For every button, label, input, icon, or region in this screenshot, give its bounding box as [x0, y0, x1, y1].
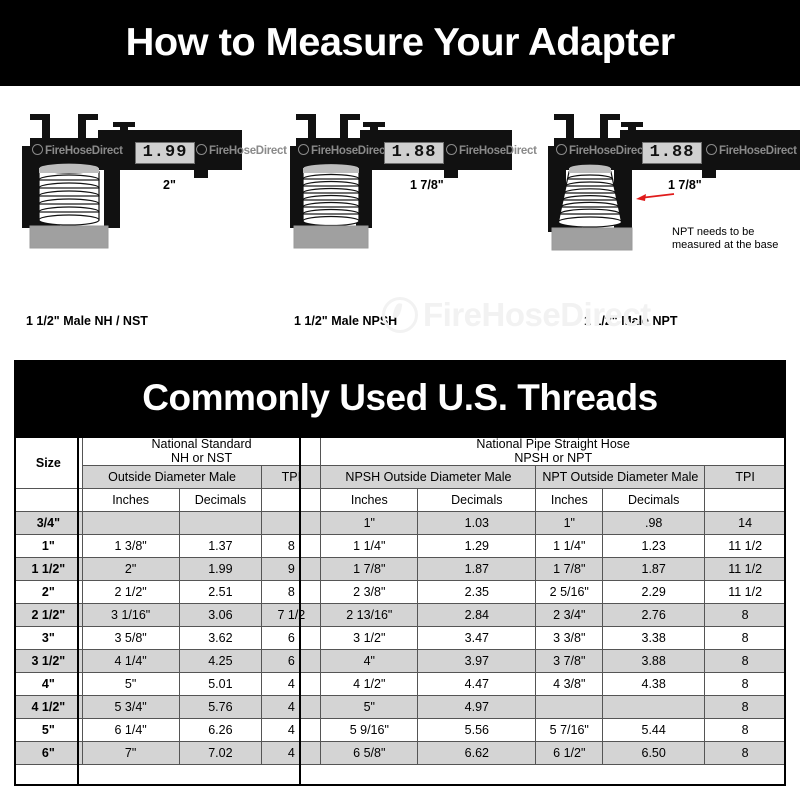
cell-npsh-in: 3 1/2" [321, 627, 418, 650]
cell-nh-in [82, 512, 179, 535]
cell-npt-in: 3 7/8" [536, 650, 603, 673]
cell-npt-tpi: 8 [705, 650, 786, 673]
cell-npt-tpi: 8 [705, 627, 786, 650]
cell-npt-dec: 1.87 [603, 558, 705, 581]
npt-note-line-2: measured at the base [672, 239, 778, 252]
col-header-npt-od-male: NPT Outside Diameter Male [536, 466, 705, 489]
unit-header-blank-size [15, 489, 83, 512]
table-row: 3"3 5/8"3.6263 1/2"3.473 3/8"3.388 [15, 627, 786, 650]
cell-npt-in: 6 1/2" [536, 742, 603, 765]
cell-nh-dec: 6.26 [179, 719, 262, 742]
cell-size: 2" [15, 581, 83, 604]
cell-nh-dec: 1.37 [179, 535, 262, 558]
col-header-size: Size [15, 437, 83, 489]
flame-ring-icon [446, 144, 457, 155]
cell-nh-tpi: 4 [262, 673, 321, 696]
cell-nh-dec: 3.06 [179, 604, 262, 627]
caliper-lcd-display-2: 1.88 [384, 142, 444, 164]
cell-npsh-dec: 2.84 [418, 604, 536, 627]
unit-header-blank-tpi-1 [262, 489, 321, 512]
strip-watermark-left: FireHoseDirect [298, 144, 389, 157]
cell-size: 4" [15, 673, 83, 696]
cell-nh-in: 3 1/16" [82, 604, 179, 627]
cell-npsh-dec: 6.62 [418, 742, 536, 765]
table-row: 3 1/2"4 1/4"4.2564"3.973 7/8"3.888 [15, 650, 786, 673]
cell-npsh-dec: 1.29 [418, 535, 536, 558]
cell-npsh-in: 2 3/8" [321, 581, 418, 604]
cell-npt-tpi: 11 1/2 [705, 558, 786, 581]
table-body: 3/4"1"1.031".98141"1 3/8"1.3781 1/4"1.29… [15, 512, 786, 765]
caliper-lcd-display-3: 1.88 [642, 142, 702, 164]
cell-nh-dec: 7.02 [179, 742, 262, 765]
unit-header-inches-1: Inches [82, 489, 179, 512]
cell-npt-dec: 3.38 [603, 627, 705, 650]
cell-npt-in: 5 7/16" [536, 719, 603, 742]
cell-size: 5" [15, 719, 83, 742]
cell-npsh-in: 1" [321, 512, 418, 535]
cell-npt-in [536, 696, 603, 719]
diagram-npsh: FireHoseDirect FireHoseDirect 1.88 1 7/8… [286, 86, 552, 356]
cell-nh-in: 2" [82, 558, 179, 581]
npt-note-line-1: NPT needs to be [672, 226, 778, 239]
cell-nh-dec [179, 512, 262, 535]
unit-header-decimals-2: Decimals [418, 489, 536, 512]
flame-ring-icon [196, 144, 207, 155]
table-row: 5"6 1/4"6.2645 9/16"5.565 7/16"5.448 [15, 719, 786, 742]
cell-npt-in: 1" [536, 512, 603, 535]
cell-nh-dec: 5.76 [179, 696, 262, 719]
cell-nh-dec: 3.62 [179, 627, 262, 650]
cell-nh-in: 6 1/4" [82, 719, 179, 742]
cell-npt-in: 3 3/8" [536, 627, 603, 650]
cell-npt-tpi: 8 [705, 604, 786, 627]
cell-nh-tpi: 6 [262, 627, 321, 650]
diagram-nh-nst: FireHoseDirect FireHoseDirect 1.99 2" 1 … [8, 86, 274, 356]
unit-header-decimals-1: Decimals [179, 489, 262, 512]
cell-npt-in: 1 1/4" [536, 535, 603, 558]
cell-size: 1" [15, 535, 83, 558]
diagram-caption-2: 1 1/2" Male NPSH [294, 314, 397, 328]
unit-header-blank-tpi-2 [705, 489, 786, 512]
cell-nh-in: 3 5/8" [82, 627, 179, 650]
cell-nh-in: 4 1/4" [82, 650, 179, 673]
cell-npsh-in: 5 9/16" [321, 719, 418, 742]
flame-ring-icon [298, 144, 309, 155]
table-title: Commonly Used U.S. Threads [142, 377, 657, 419]
strip-watermark-right: FireHoseDirect [706, 144, 797, 157]
cell-nh-dec: 4.25 [179, 650, 262, 673]
unit-header-decimals-3: Decimals [603, 489, 705, 512]
table-row: 1 1/2"2"1.9991 7/8"1.871 7/8"1.8711 1/2 [15, 558, 786, 581]
cell-npsh-in: 4 1/2" [321, 673, 418, 696]
cell-npt-dec: .98 [603, 512, 705, 535]
cell-size: 6" [15, 742, 83, 765]
cell-npsh-in: 1 1/4" [321, 535, 418, 558]
table-row: 6"7"7.0246 5/8"6.626 1/2"6.508 [15, 742, 786, 765]
caliper-reading-label-1: 2" [163, 178, 176, 192]
diagram-caption-3: 1 1/2" Male NPT [584, 314, 677, 328]
page-title: How to Measure Your Adapter [125, 21, 674, 65]
cell-npt-dec: 5.44 [603, 719, 705, 742]
strip-watermark-right: FireHoseDirect [446, 144, 537, 157]
ns-line2: NH or NST [171, 451, 232, 465]
cell-npt-tpi: 8 [705, 673, 786, 696]
cell-size: 3/4" [15, 512, 83, 535]
cell-nh-tpi: 7 1/2 [262, 604, 321, 627]
red-arrow-icon [636, 194, 674, 201]
cell-npsh-in: 4" [321, 650, 418, 673]
cell-npt-tpi: 11 1/2 [705, 535, 786, 558]
cell-npsh-dec: 5.56 [418, 719, 536, 742]
cell-npt-tpi: 11 1/2 [705, 581, 786, 604]
cell-npt-dec: 2.29 [603, 581, 705, 604]
table-head: Size National Standard NH or NST Nationa… [15, 437, 786, 512]
cell-npsh-dec: 2.35 [418, 581, 536, 604]
col-header-tpi-right: TPI [705, 466, 786, 489]
cell-npt-dec [603, 696, 705, 719]
nps-line1: National Pipe Straight Hose [476, 437, 630, 451]
diagram-caption-1: 1 1/2" Male NH / NST [26, 314, 148, 328]
unit-header-inches-3: Inches [536, 489, 603, 512]
top-title-banner: How to Measure Your Adapter [0, 0, 800, 86]
col-header-tpi-left: TPI [262, 466, 321, 489]
cell-size: 1 1/2" [15, 558, 83, 581]
cell-npsh-in: 2 13/16" [321, 604, 418, 627]
caliper-lcd-display-1: 1.99 [135, 142, 195, 164]
cell-npsh-in: 1 7/8" [321, 558, 418, 581]
table-sub-header-row: Outside Diameter Male TPI NPSH Outside D… [15, 466, 786, 489]
flame-ring-icon [556, 144, 567, 155]
cell-nh-in: 5 3/4" [82, 696, 179, 719]
table-row: 3/4"1"1.031".9814 [15, 512, 786, 535]
col-group-national-pipe-straight-hose: National Pipe Straight Hose NPSH or NPT [321, 437, 786, 466]
cell-npsh-dec: 3.97 [418, 650, 536, 673]
table-row: 2 1/2"3 1/16"3.067 1/22 13/16"2.842 3/4"… [15, 604, 786, 627]
ns-line1: National Standard [152, 437, 252, 451]
cell-nh-tpi: 4 [262, 742, 321, 765]
cell-npt-tpi: 14 [705, 512, 786, 535]
table-unit-header-row: Inches Decimals Inches Decimals Inches D… [15, 489, 786, 512]
cell-size: 4 1/2" [15, 696, 83, 719]
cell-size: 3 1/2" [15, 650, 83, 673]
cell-npsh-dec: 4.47 [418, 673, 536, 696]
cell-nh-dec: 5.01 [179, 673, 262, 696]
cell-size: 2 1/2" [15, 604, 83, 627]
table-row: 1"1 3/8"1.3781 1/4"1.291 1/4"1.2311 1/2 [15, 535, 786, 558]
strip-watermark-left: FireHoseDirect [32, 144, 123, 157]
cell-size: 3" [15, 627, 83, 650]
flame-ring-icon [706, 144, 717, 155]
cell-npt-dec: 4.38 [603, 673, 705, 696]
cell-npt-in: 2 5/16" [536, 581, 603, 604]
cell-nh-tpi: 4 [262, 719, 321, 742]
nps-line2: NPSH or NPT [514, 451, 592, 465]
caliper-reading-label-2: 1 7/8" [410, 178, 444, 192]
cell-nh-tpi: 8 [262, 581, 321, 604]
cell-npt-in: 4 3/8" [536, 673, 603, 696]
cell-nh-tpi: 9 [262, 558, 321, 581]
cell-npsh-in: 5" [321, 696, 418, 719]
cell-npt-dec: 1.23 [603, 535, 705, 558]
strip-watermark-right: FireHoseDirect [196, 144, 287, 157]
caliper-reading-label-3: 1 7/8" [668, 178, 702, 192]
cell-npt-in: 1 7/8" [536, 558, 603, 581]
col-header-od-male: Outside Diameter Male [82, 466, 262, 489]
cell-nh-in: 7" [82, 742, 179, 765]
col-header-npsh-od-male: NPSH Outside Diameter Male [321, 466, 536, 489]
cell-nh-dec: 2.51 [179, 581, 262, 604]
cell-npsh-dec: 1.03 [418, 512, 536, 535]
cell-nh-tpi: 8 [262, 535, 321, 558]
table-title-banner: Commonly Used U.S. Threads [14, 360, 786, 436]
table-row: 2"2 1/2"2.5182 3/8"2.352 5/16"2.2911 1/2 [15, 581, 786, 604]
diagram-npt: FireHoseDirect FireHoseDirect 1.88 1 7/8… [540, 86, 800, 356]
cell-npt-tpi: 8 [705, 742, 786, 765]
flame-ring-icon [32, 144, 43, 155]
col-group-national-standard: National Standard NH or NST [82, 437, 321, 466]
diagram-band: FireHoseDirect FireHoseDirect 1.99 2" 1 … [0, 86, 800, 356]
table-group-header-row: Size National Standard NH or NST Nationa… [15, 437, 786, 466]
table-row: 4"5"5.0144 1/2"4.474 3/8"4.388 [15, 673, 786, 696]
cell-nh-tpi [262, 512, 321, 535]
cell-npt-dec: 3.88 [603, 650, 705, 673]
cell-nh-tpi: 6 [262, 650, 321, 673]
cell-npt-tpi: 8 [705, 696, 786, 719]
page-root: How to Measure Your Adapter [0, 0, 800, 800]
cell-npsh-in: 6 5/8" [321, 742, 418, 765]
npt-measurement-note: NPT needs to be measured at the base [672, 226, 778, 252]
cell-npsh-dec: 3.47 [418, 627, 536, 650]
strip-watermark-left: FireHoseDirect [556, 144, 647, 157]
cell-nh-tpi: 4 [262, 696, 321, 719]
cell-nh-in: 5" [82, 673, 179, 696]
cell-npt-dec: 6.50 [603, 742, 705, 765]
table-row: 4 1/2"5 3/4"5.7645"4.978 [15, 696, 786, 719]
cell-nh-in: 1 3/8" [82, 535, 179, 558]
cell-nh-dec: 1.99 [179, 558, 262, 581]
cell-npt-dec: 2.76 [603, 604, 705, 627]
unit-header-inches-2: Inches [321, 489, 418, 512]
cell-nh-in: 2 1/2" [82, 581, 179, 604]
cell-npsh-dec: 4.97 [418, 696, 536, 719]
cell-npsh-dec: 1.87 [418, 558, 536, 581]
cell-npt-tpi: 8 [705, 719, 786, 742]
cell-npt-in: 2 3/4" [536, 604, 603, 627]
thread-reference-table: Size National Standard NH or NST Nationa… [14, 436, 786, 765]
